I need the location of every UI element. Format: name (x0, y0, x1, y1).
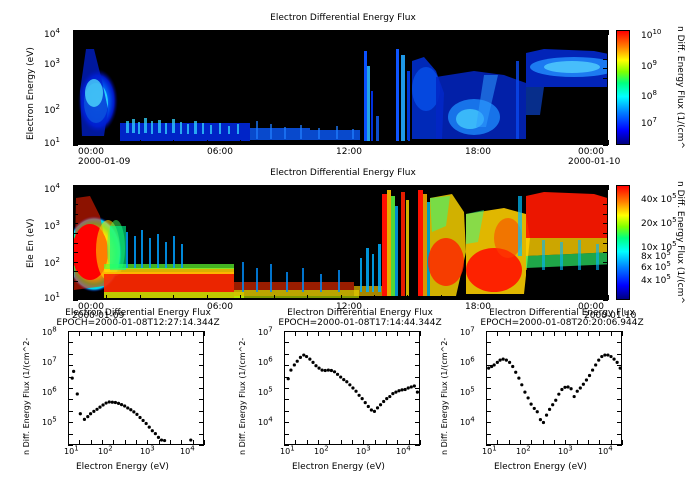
panel2-cbtick-40: 40x 105 (641, 195, 677, 205)
panel1-xtick-2: 12:00 (336, 147, 362, 157)
panel5-ytick-7: 107 (460, 328, 475, 337)
panel3-xtick-1: 101 (64, 447, 79, 456)
panel1-xdate-left: 2000-01-09 (78, 157, 130, 167)
panel3-subtitle: EPOCH=2000-01-08T12:27:14.344Z (38, 318, 238, 328)
panel5-ytick-4: 104 (460, 418, 475, 427)
panel3-ytick-8: 108 (42, 328, 57, 337)
panel1-xtick-0: 00:00 (78, 147, 104, 157)
panel5-subtitle: EPOCH=2000-01-08T20:20:06.944Z (462, 318, 662, 328)
panel5-ylabel: n Diff. Energy Flux (1/(cm^2- (440, 338, 449, 455)
panel1-xtick-4: 00:00 (578, 147, 604, 157)
panel3-ytick-7: 107 (42, 358, 57, 367)
panel2-ytick-3: 103 (44, 222, 60, 232)
panel1-ytick-1: 101 (44, 139, 60, 149)
panel4-ytick-5: 105 (258, 388, 273, 397)
axis-ticks (68, 331, 204, 445)
panel4-subtitle: EPOCH=2000-01-08T17:14:44.344Z (260, 318, 460, 328)
panel2-cbtick-4: 4x 105 (641, 276, 671, 286)
panel1-xdate-right: 2000-01-10 (568, 157, 620, 167)
panel4-ytick-4: 104 (258, 418, 273, 427)
panel4-xtick-2: 102 (314, 447, 329, 456)
panel4-xtick-1: 101 (280, 447, 295, 456)
panel1-colorbar-label: n Diff. Energy Flux (1/(cm^ (675, 26, 685, 149)
panel5-xtick-2: 102 (516, 447, 531, 456)
panel5-title: Electron Differential Energy Flux (462, 308, 662, 318)
axis-ticks (73, 30, 608, 145)
panel4-xtick-4: 104 (396, 447, 411, 456)
panel2-cbtick-20: 20x 105 (641, 219, 677, 229)
panel5-ytick-6: 106 (460, 358, 475, 367)
panel2-colorbar (616, 185, 630, 300)
panel2-title: Electron Differential Energy Flux (213, 168, 473, 178)
panel5-ytick-5: 105 (460, 388, 475, 397)
panel1-ytick-2: 102 (44, 106, 60, 116)
panel1-cbtick-10: 1010 (641, 31, 661, 41)
panel3-ytick-5: 105 (42, 418, 57, 427)
axis-ticks (284, 331, 420, 445)
panel3-title: Electron Differential Energy Flux (38, 308, 238, 318)
panel4-ylabel: n Diff. Energy Flux (1/(cm^2- (238, 338, 247, 455)
panel1-xtick-1: 06:00 (207, 147, 233, 157)
panel2-colorbar-label: n Diff. Energy Flux (1/(cm^ (675, 181, 685, 304)
panel1-xtick-3: 18:00 (465, 147, 491, 157)
panel4-xtick-3: 103 (356, 447, 371, 456)
panel5-xtick-3: 103 (558, 447, 573, 456)
panel1-title: Electron Differential Energy Flux (213, 13, 473, 23)
panel3-ytick-6: 106 (42, 388, 57, 397)
panel3-xtick-4: 104 (180, 447, 195, 456)
panel1-colorbar (616, 30, 630, 145)
panel3-xtick-3: 103 (140, 447, 155, 456)
panel3-xtick-2: 102 (98, 447, 113, 456)
panel4-xlabel: Electron Energy (eV) (292, 462, 385, 472)
panel1-ytick-3: 103 (44, 60, 60, 70)
panel2-cbtick-6: 6x 105 (641, 263, 671, 273)
panel4-ytick-6: 106 (258, 358, 273, 367)
panel1-cbtick-8: 108 (641, 92, 657, 102)
panel5-xtick-4: 104 (598, 447, 613, 456)
panel4-title: Electron Differential Energy Flux (260, 308, 460, 318)
panel1-ylabel: Electron Energy (eV) (26, 47, 36, 140)
panel5-xlabel: Electron Energy (eV) (494, 462, 587, 472)
panel2-ytick-1: 101 (44, 294, 60, 304)
axis-ticks (486, 331, 622, 445)
axis-ticks (73, 185, 608, 300)
panel5-xtick-1: 101 (482, 447, 497, 456)
panel4-ytick-7: 107 (258, 328, 273, 337)
panel1-ytick-4: 104 (44, 30, 60, 40)
panel2-ylabel: Ele En (eV) (26, 218, 36, 268)
panel1-cbtick-9: 109 (641, 62, 657, 72)
panel3-xlabel: Electron Energy (eV) (76, 462, 169, 472)
panel3-ylabel: n Diff. Energy Flux (1/(cm^2- (22, 338, 31, 455)
panel2-ytick-4: 104 (44, 185, 60, 195)
panel2-ytick-2: 102 (44, 259, 60, 269)
panel1-cbtick-7: 107 (641, 119, 657, 129)
